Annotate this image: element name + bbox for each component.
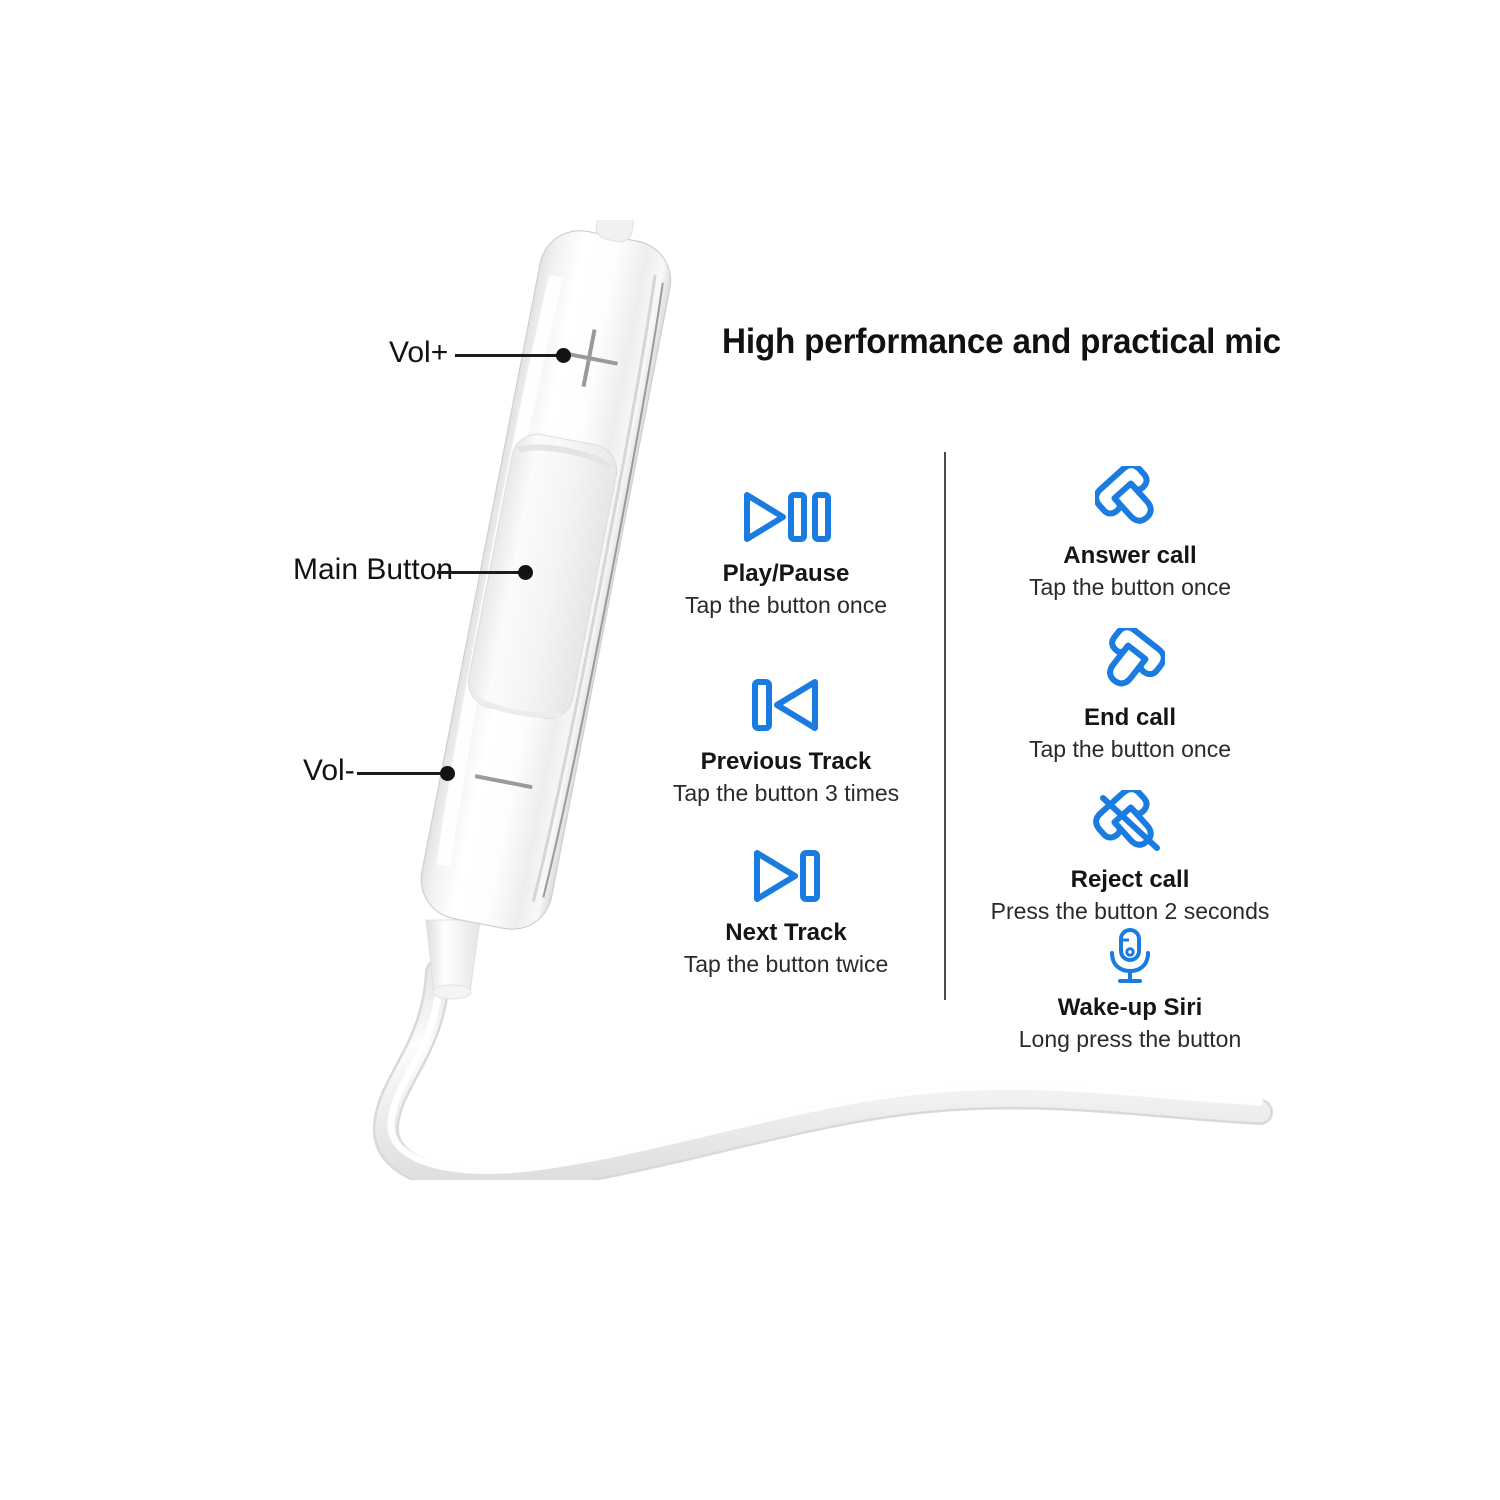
- callout-label-main-button: Main Button: [293, 553, 453, 587]
- leader-line-vol-minus: [357, 772, 445, 775]
- callout-label-vol-plus: Vol+: [389, 336, 448, 370]
- leader-line-main-button: [437, 571, 523, 574]
- feature-subtitle: Tap the button twice: [636, 951, 936, 978]
- feature-subtitle: Long press the button: [980, 1026, 1280, 1053]
- feature-wake-up-siri: Wake-up Siri Long press the button: [980, 928, 1280, 1053]
- feature-subtitle: Tap the button once: [636, 592, 936, 619]
- feature-title: Previous Track: [636, 748, 936, 776]
- phone-reject-icon: [980, 790, 1280, 856]
- next-track-icon: [636, 843, 936, 909]
- infographic-canvas: High performance and practical mic: [0, 0, 1500, 1500]
- callout-label-vol-minus: Vol-: [303, 754, 355, 788]
- column-divider: [944, 452, 946, 1000]
- feature-next-track: Next Track Tap the button twice: [636, 843, 936, 978]
- cable-strain-relief: [426, 920, 480, 999]
- leader-dot-main-button: [518, 565, 533, 580]
- feature-title: End call: [980, 704, 1280, 732]
- microphone-icon: [980, 928, 1280, 984]
- feature-title: Reject call: [980, 866, 1280, 894]
- feature-subtitle: Tap the button once: [980, 736, 1280, 763]
- feature-answer-call: Answer call Tap the button once: [980, 466, 1280, 601]
- play-pause-icon: [636, 484, 936, 550]
- previous-track-icon: [636, 672, 936, 738]
- feature-subtitle: Tap the button once: [980, 574, 1280, 601]
- feature-title: Play/Pause: [636, 560, 936, 588]
- feature-reject-call: Reject call Press the button 2 seconds: [980, 790, 1280, 925]
- feature-previous-track: Previous Track Tap the button 3 times: [636, 672, 936, 807]
- leader-line-vol-plus: [455, 354, 559, 357]
- leader-dot-vol-minus: [440, 766, 455, 781]
- feature-play-pause: Play/Pause Tap the button once: [636, 484, 936, 619]
- feature-title: Next Track: [636, 919, 936, 947]
- leader-dot-vol-plus: [556, 348, 571, 363]
- feature-subtitle: Tap the button 3 times: [636, 780, 936, 807]
- phone-end-icon: [980, 628, 1280, 694]
- feature-subtitle: Press the button 2 seconds: [980, 898, 1280, 925]
- phone-answer-icon: [980, 466, 1280, 532]
- feature-end-call: End call Tap the button once: [980, 628, 1280, 763]
- feature-title: Answer call: [980, 542, 1280, 570]
- feature-title: Wake-up Siri: [980, 994, 1280, 1022]
